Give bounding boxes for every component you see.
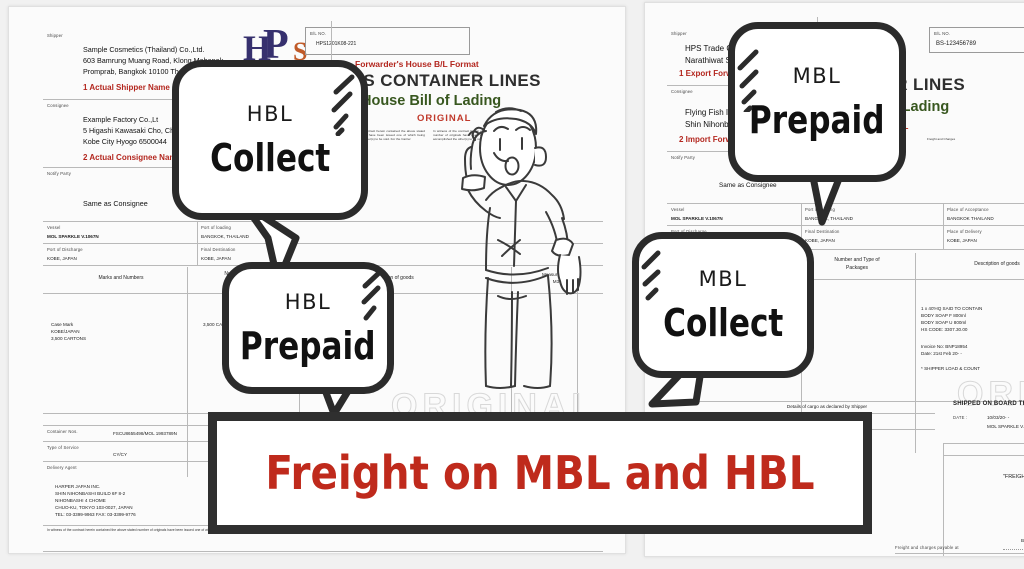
mbl-bl-no-label: B/L NO.	[934, 31, 950, 36]
mbl-vline-b	[943, 203, 944, 249]
bubble-hbl-prepaid-term: Prepaid	[240, 327, 376, 365]
hbl-shipper-note: 1 Actual Shipper Name	[83, 83, 170, 92]
mbl-goods-invoice: Invoice No: BNP18954 Date: 21st Feb 20- …	[921, 343, 967, 357]
hbl-delivery-agent-label: Delivery Agent	[47, 465, 77, 470]
mbl-freight-prepaid-value: "FREIGHT PREPAID"	[1003, 473, 1024, 481]
page-title: Freight on MBL and HBL	[265, 446, 814, 500]
hbl-port-discharge-label: Port of Discharge	[47, 247, 83, 252]
hbl-vline-1	[197, 221, 198, 265]
mbl-sob-vessel-value: MOL SPARKLE V.1067N	[987, 423, 1024, 430]
hbl-shipper-label: Shipper	[47, 33, 63, 38]
sparkle-icon-mbl-prepaid	[732, 46, 766, 112]
bubble-hbl-collect-type: HBL	[247, 104, 293, 125]
hbl-bl-no-label: B/L NO.	[310, 31, 326, 36]
hbl-port-discharge-value: KOBE, JAPAN	[47, 255, 77, 262]
mbl-final-dest-label: Final Destination	[805, 229, 840, 234]
mbl-place-delivery-label: Place of Delivery	[947, 229, 982, 234]
mbl-goods-label: Description of goods	[927, 261, 1024, 269]
sparkle-icon-hbl-prepaid	[360, 268, 394, 324]
mbl-place-acceptance-value: BANGKOK THAILAND	[947, 215, 994, 222]
bubble-mbl-prepaid-term: Prepaid	[749, 101, 885, 139]
hbl-header-sub: Forwarder's House B/L Format	[355, 59, 479, 69]
mbl-packages-label: Number and Type of Packages	[809, 257, 905, 273]
mbl-goods-note: * SHIPPER LOAD & COUNT	[921, 365, 980, 372]
mbl-vline-6	[943, 443, 944, 557]
mbl-vessel-label: Vessel	[671, 207, 685, 212]
bubble-mbl-collect-term: Collect	[663, 304, 783, 342]
title-banner: Freight on MBL and HBL	[208, 412, 872, 534]
hbl-consignee-label: Consignee	[47, 103, 69, 108]
mbl-sob-date-value: 10/03/20- -	[987, 414, 1009, 421]
bubble-hbl-prepaid-type: HBL	[285, 292, 331, 313]
mbl-watermark: ORIGINAL	[957, 375, 1024, 414]
confused-man-illustration	[428, 100, 618, 400]
hbl-service-type-value: CY/CY	[113, 451, 127, 458]
mbl-rule-11	[943, 455, 1024, 456]
bubble-mbl-prepaid-type: MBL	[793, 66, 842, 87]
mbl-cargo-details-label: Details of cargo as declared by Shipper	[717, 403, 937, 410]
mbl-shipped-on-board-label: SHIPPED ON BOARD THE VESSEL	[953, 401, 1024, 407]
hbl-final-dest-value: KOBE, JAPAN	[201, 255, 231, 262]
mbl-final-dest-value: KOBE, JAPAN	[805, 237, 835, 244]
hbl-bl-no-box: B/L NO. HPS1201K08-221	[305, 27, 470, 55]
mbl-bl-no-value: BS-123456789	[936, 40, 976, 49]
mbl-shipper-label: Shipper	[671, 31, 687, 36]
hbl-vline-2	[187, 267, 188, 477]
bubble-mbl-collect-type: MBL	[699, 269, 748, 290]
hbl-port-loading-label: Port of loading	[201, 225, 231, 230]
hbl-header-main: HPS CONTAINER LINES	[339, 71, 541, 91]
mbl-rule-10	[943, 443, 1024, 444]
mbl-goods-value: 1 x 40'HQ SAID TO CONTAIN BODY SOAP F 80…	[921, 305, 982, 333]
sparkle-icon-mbl-collect	[636, 248, 668, 304]
mbl-bl-no-box: B/L NO. BS-123456789	[929, 27, 1024, 53]
hbl-rule-12	[43, 551, 603, 552]
hbl-container-nos-value: FSCU8655498/MOL 1993789N	[113, 430, 177, 437]
bubble-hbl-collect-term: Collect	[210, 139, 330, 177]
hbl-vessel-label: Vessel	[47, 225, 61, 230]
hbl-service-type-label: Type of Service	[47, 445, 79, 450]
hbl-consignee-note: 2 Actual Consignee Name	[83, 153, 181, 162]
mbl-consignee-label: Consignee	[671, 89, 693, 94]
hbl-marks-label: Marks and Numbers	[61, 275, 181, 283]
mbl-notify-label: Notify Party	[671, 155, 695, 160]
hbl-container-nos-label: Container Nos.	[47, 429, 78, 434]
hbl-notify-value: Same as Consignee	[83, 199, 148, 210]
hbl-final-dest-label: Final Destination	[201, 247, 236, 252]
slide-canvas: H P S B/L NO. HPS1201K08-221 Forwarder's…	[0, 0, 1024, 569]
mbl-place-acceptance-label: Place of Acceptance	[947, 207, 989, 212]
mbl-freight-charges-label: Freight and Charges	[953, 445, 1024, 452]
hbl-marks-value: Case Mark KOBE/JAPAN 3,500 CARTONS	[51, 321, 86, 342]
hbl-bl-no-value: HPS1201K08-221	[316, 41, 356, 49]
mbl-place-delivery-value: KOBE, JAPAN	[947, 237, 977, 244]
mbl-vessel-value: MOL SPARKLE V.1067N	[671, 215, 723, 222]
mbl-vline-2	[915, 253, 916, 453]
mbl-payable-at-line	[1003, 549, 1024, 550]
mbl-legal-right: Freight and Charges	[927, 137, 1019, 141]
hbl-vessel-value: MOL SPARKLE V.1067N	[47, 233, 99, 240]
sparkle-icon-hbl-collect	[330, 72, 366, 136]
hbl-agent-line: As Agent for the Carrier HPS Container L…	[121, 553, 421, 554]
mbl-rule-12	[895, 553, 1024, 554]
mbl-payable-at-label: Freight and charges payable at	[895, 545, 959, 550]
mbl-notify-value: Same as Consignee	[719, 181, 777, 191]
mbl-sob-date-label: DATE :	[953, 415, 967, 420]
hbl-notify-label: Notify Party	[47, 171, 71, 176]
hbl-delivery-agent-value: HARPER JAPAN INC. SHIN NIHONBASHI BUILD …	[55, 483, 136, 519]
